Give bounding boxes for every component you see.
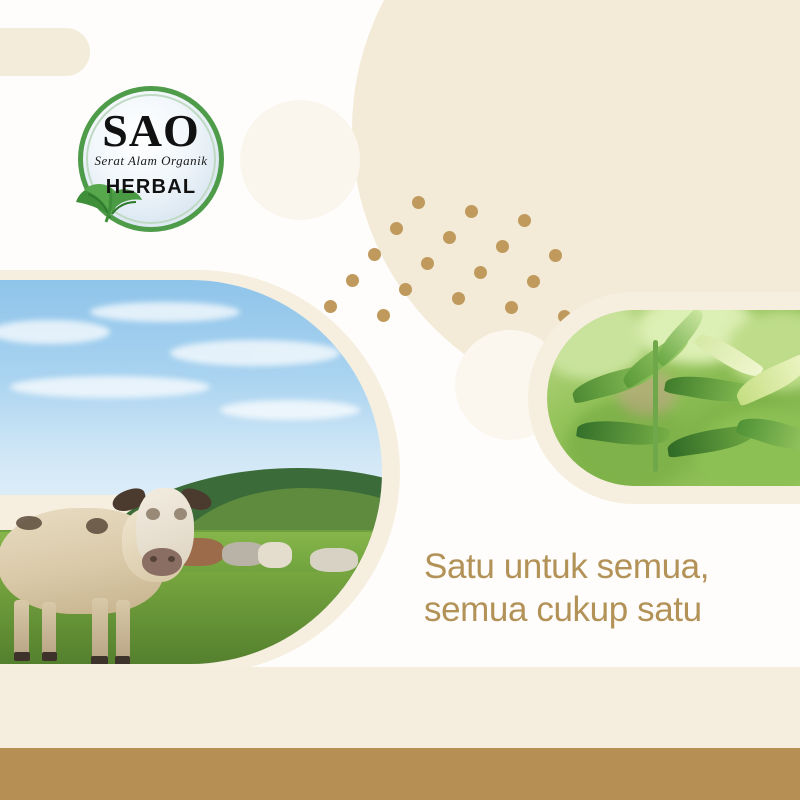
photo-cow-leg [92,598,108,662]
cow-pasture-photo [0,280,382,664]
decor-dot [390,222,403,235]
decor-dot [518,214,531,227]
photo-tea-stem [653,340,658,472]
photo-cow-leg [116,600,130,662]
photo-cow-hoof [42,652,57,661]
decor-dot [421,257,434,270]
photo-cow-leg [42,602,56,658]
photo-cow-nostril [168,556,175,562]
decor-dot [474,266,487,279]
decor-bottom-band [0,667,800,748]
decor-dot [452,292,465,305]
tagline-line-2: semua cukup satu [424,588,792,631]
photo-cloud [10,376,210,398]
decor-dot [412,196,425,209]
photo-cow-hoof [115,656,130,664]
photo-cow-eye [146,508,160,520]
decor-dot [496,240,509,253]
decor-bottom-gold-bar [0,748,800,800]
decor-dot [505,301,518,314]
photo-cloud [90,302,240,322]
decor-dot [549,249,562,262]
photo-cow-hoof [91,656,108,664]
logo-tagline: Serat Alam Organik [72,154,230,168]
decor-dot [399,283,412,296]
photo-cloud [170,340,340,366]
tagline-line-1: Satu untuk semua, [424,545,792,588]
photo-cow-hoof [14,652,30,661]
tea-leaves-photo [547,310,800,486]
photo-cow-spot [16,516,42,530]
logo-category: HERBAL [72,176,230,198]
photo-cow-spot [86,518,108,534]
decor-dot [465,205,478,218]
decor-rounded-rect-top-left [0,28,90,76]
logo-wordmark: SAO [72,108,230,154]
photo-cow-muzzle [142,548,182,576]
photo-cow-distant [258,542,292,568]
photo-cow-distant [310,548,358,572]
decor-dot [368,248,381,261]
decor-dot [527,275,540,288]
poster-tagline: Satu untuk semua, semua cukup satu [424,545,792,631]
poster-canvas: SAO Serat Alam Organik HERBAL Satu untuk… [0,0,800,800]
photo-cow-eye [174,508,187,520]
photo-cow-leg [14,600,29,658]
photo-cow-nostril [150,556,157,562]
decor-dot [443,231,456,244]
brand-logo[interactable]: SAO Serat Alam Organik HERBAL [72,84,230,236]
photo-cloud [220,400,360,420]
